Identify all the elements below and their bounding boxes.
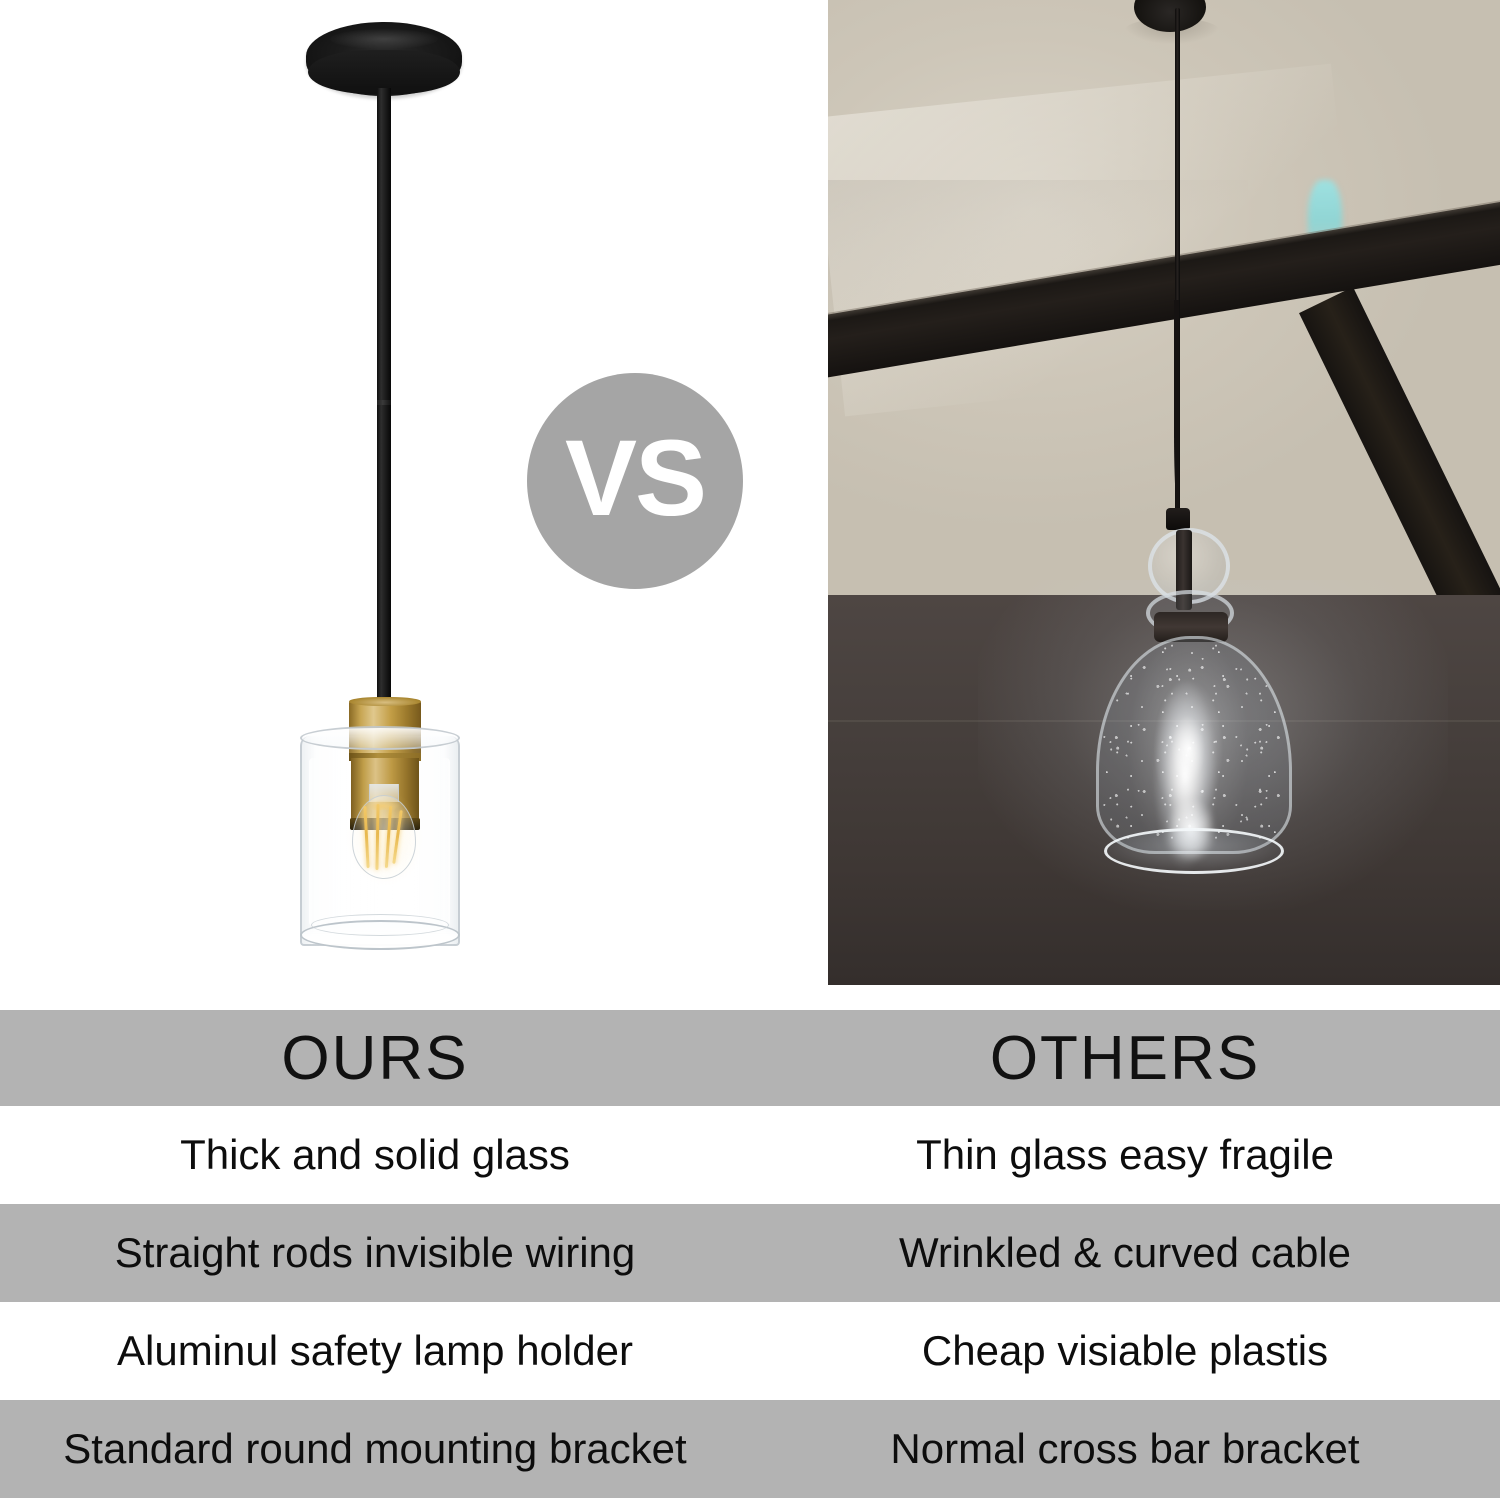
others-header-label: OTHERS	[990, 1023, 1260, 1094]
cord-cap	[1166, 508, 1190, 530]
others-feature-text: Wrinkled & curved cable	[899, 1229, 1351, 1277]
canopy-highlight	[330, 29, 438, 49]
cord-bend	[1174, 300, 1187, 520]
others-product-photo	[828, 0, 1500, 985]
table-row: Aluminul safety lamp holder Cheap visiab…	[0, 1302, 1500, 1400]
others-cell: Wrinkled & curved cable	[750, 1229, 1500, 1277]
product-comparison-visual: VS	[0, 0, 1500, 1010]
ours-cell: Straight rods invisible wiring	[0, 1229, 750, 1277]
glass-shade-top-rim	[300, 726, 460, 750]
others-feature-text: Thin glass easy fragile	[916, 1131, 1334, 1179]
comparison-table: OURS OTHERS Thick and solid glass Thin g…	[0, 1010, 1500, 1500]
ours-cell: Aluminul safety lamp holder	[0, 1327, 750, 1375]
pendant-rod	[377, 88, 391, 706]
glass-highlight-left	[309, 758, 318, 926]
others-cell: Normal cross bar bracket	[750, 1425, 1500, 1473]
ours-cell: Standard round mounting bracket	[0, 1425, 750, 1473]
others-cell: Thin glass easy fragile	[750, 1131, 1500, 1179]
ours-cell: Thick and solid glass	[0, 1131, 750, 1179]
table-row: Standard round mounting bracket Normal c…	[0, 1400, 1500, 1498]
ours-feature-text: Aluminul safety lamp holder	[117, 1327, 633, 1375]
brass-socket-top-ring	[349, 697, 421, 706]
table-row: Straight rods invisible wiring Wrinkled …	[0, 1204, 1500, 1302]
vs-badge: VS	[527, 373, 743, 589]
vs-label: VS	[565, 424, 705, 532]
table-header-row: OURS OTHERS	[0, 1010, 1500, 1106]
glass-highlight-right	[440, 758, 450, 926]
ours-header-label: OURS	[281, 1023, 468, 1094]
header-cell-ours: OURS	[0, 1023, 750, 1094]
others-feature-text: Cheap visiable plastis	[922, 1327, 1328, 1375]
others-cell: Cheap visiable plastis	[750, 1327, 1500, 1375]
others-feature-text: Normal cross bar bracket	[890, 1425, 1359, 1473]
seeded-shade-rim	[1104, 828, 1284, 874]
ours-feature-text: Straight rods invisible wiring	[115, 1229, 636, 1277]
header-cell-others: OTHERS	[750, 1023, 1500, 1094]
ours-feature-text: Thick and solid glass	[180, 1131, 570, 1179]
rod-joint	[377, 400, 391, 405]
glass-shade-bottom-inner-rim	[311, 914, 449, 936]
ours-feature-text: Standard round mounting bracket	[63, 1425, 686, 1473]
table-row: Thick and solid glass Thin glass easy fr…	[0, 1106, 1500, 1204]
filament-mount	[366, 800, 400, 810]
